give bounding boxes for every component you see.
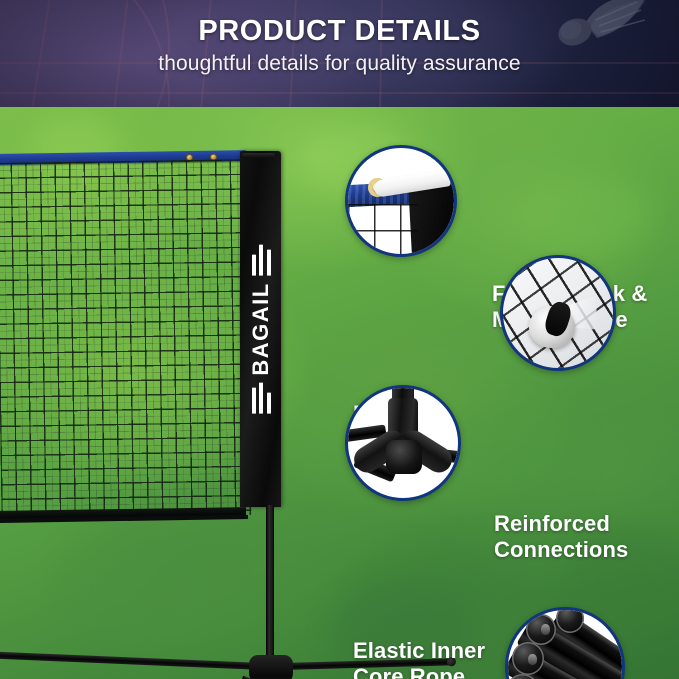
branded-post-sleeve: BAGAIL — [240, 151, 281, 507]
elastic-rope-knot — [528, 654, 537, 665]
banner-text-block: PRODUCT DETAILS thoughtful details for q… — [0, 16, 679, 76]
product-details-infographic: PRODUCT DETAILS thoughtful details for q… — [0, 0, 679, 679]
brand-bars-left-icon — [251, 383, 270, 414]
elastic-rope-knot — [541, 624, 550, 635]
callout-image-inner — [503, 258, 613, 368]
callout-label-reinforced-connections: Reinforced Connections — [494, 511, 628, 563]
header-banner: PRODUCT DETAILS thoughtful details for q… — [0, 0, 679, 107]
callout-image-inner — [348, 148, 454, 254]
callout-image-fasten-hook-metal-buckle — [345, 145, 457, 257]
brand-bars-right-icon — [251, 244, 270, 275]
vertical-pole — [266, 505, 274, 665]
connector-hub — [386, 440, 422, 474]
page-subtitle: thoughtful details for quality assurance — [0, 52, 679, 76]
hook-net-mesh — [348, 204, 418, 254]
net-mesh-fine — [0, 159, 252, 519]
brand-name: BAGAIL — [250, 282, 272, 375]
grass-blur-blob — [520, 177, 650, 257]
callout-image-inner — [348, 388, 458, 498]
page-title: PRODUCT DETAILS — [0, 16, 679, 47]
bagail-logo: BAGAIL — [250, 244, 272, 413]
callout-image-reinforced-connections — [345, 385, 461, 501]
callout-image-durable-nylon-net — [500, 255, 616, 371]
base-t-connector — [249, 655, 293, 679]
callout-label-elastic-inner-core-rope: Elastic Inner Core Rope — [353, 638, 485, 679]
product-photo-area: BAGAIL — [0, 107, 679, 679]
